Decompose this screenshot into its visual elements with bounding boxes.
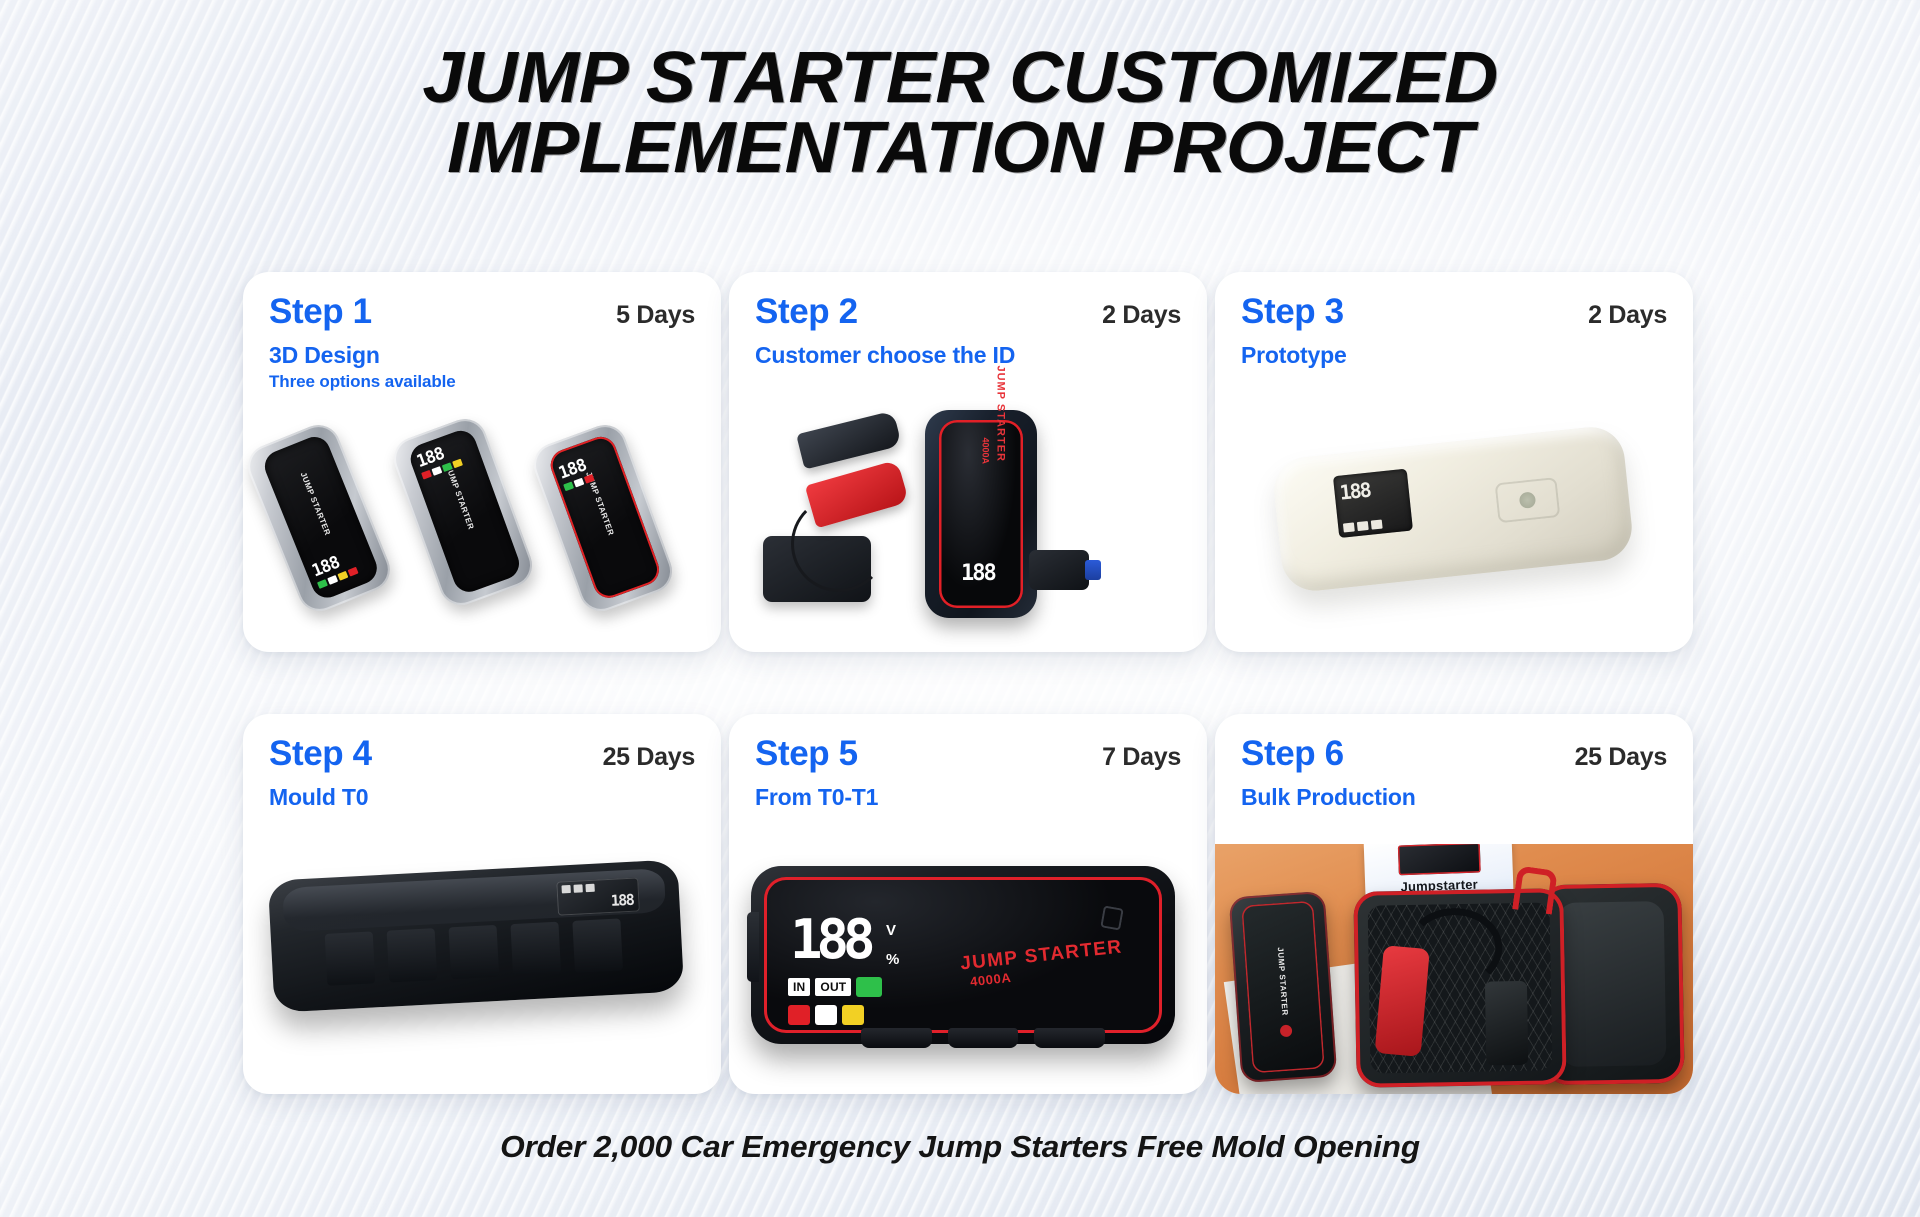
finished-unit-panel: 188 V % IN OUT [764,877,1162,1033]
step-card-6-header: Step 6 25 Days [1241,736,1667,773]
step-card-2[interactable]: Step 2 2 Days Customer choose the ID JUM… [729,272,1207,652]
chip-red [421,470,432,480]
battery-icon [842,1005,864,1025]
step-card-2-header: Step 2 2 Days [755,294,1181,331]
render-unit-b: JUMP STARTER 188 [388,413,538,611]
step-5-days: 7 Days [1102,736,1181,772]
step-card-1[interactable]: Step 1 5 Days 3D Design Three options av… [243,272,721,652]
jump-starter-with-clamps-illustration: JUMP STARTER 4000A 188 [729,400,1207,648]
render-unit-a-face: JUMP STARTER 188 [260,432,381,602]
chip-green [563,482,574,492]
step-3-subtitle: Prototype [1241,342,1667,369]
render-unit-b-lcd: 188 [415,437,476,484]
step-2-days: 2 Days [1102,294,1181,330]
steps-grid: Step 1 5 Days 3D Design Three options av… [243,272,1683,1094]
smart-cable-plug [1029,550,1089,590]
packaged-unit-face: JUMP STARTER [1241,901,1325,1074]
footer-note: Order 2,000 Car Emergency Jump Starters … [0,1129,1920,1165]
prototype-screen: 188 [1333,469,1413,538]
jump-starter-amp-text: 4000A [981,437,991,464]
case-black-plug [1485,981,1528,1066]
jump-starter-lcd-value: 188 [961,561,995,586]
unit-percent: % [886,946,899,975]
prototype-shell: 188 [1271,424,1635,594]
box-product-image [1398,844,1481,875]
jump-starter-brand-text: JUMP STARTER [995,365,1007,462]
step-1-subtitle: 3D Design [269,342,695,369]
chip-white [431,466,442,476]
icon-cell [573,884,582,892]
grip [948,1028,1019,1048]
indicator [1357,521,1369,531]
page-title: JUMP STARTER CUSTOMIZED IMPLEMENTATION P… [0,44,1920,184]
tag-out: OUT [815,978,851,996]
three-3d-render-units-illustration: JUMP STARTER 188 [243,404,721,644]
step-6-subtitle: Bulk Production [1241,784,1667,811]
step-4-media: 188 [243,844,721,1094]
step-6-media: Jumpstarter [1215,844,1693,1094]
render-unit-c: JUMP STARTER 188 [528,419,678,617]
step-card-5[interactable]: Step 5 7 Days From T0-T1 188 V % IN [729,714,1207,1094]
mould-lcd-icons [561,884,594,894]
chip-white [574,478,585,488]
warning-icon [788,1005,810,1025]
step-1-subtitle2: Three options available [269,372,695,392]
mould-lcd-window: 188 [556,877,640,915]
unit-volt: V [886,917,899,946]
tag-in: IN [788,978,810,996]
step-2-media: JUMP STARTER 4000A 188 [729,402,1207,652]
rib [325,931,376,985]
case-red-clamp [1375,945,1430,1057]
rib [387,928,438,982]
icon-cell [585,884,594,892]
page-title-line-2: IMPLEMENTATION PROJECT [0,114,1920,184]
render-unit-c-face: JUMP STARTER 188 [546,432,663,602]
render-unit-c-lcd: 188 [557,448,618,495]
step-1-days: 5 Days [616,294,695,330]
step-6-label: Step 6 [1241,736,1344,773]
step-5-media: 188 V % IN OUT [729,844,1207,1094]
finished-unit-illustration: 188 V % IN OUT [729,848,1207,1080]
rib [510,922,561,976]
chip-red [584,474,595,484]
step-4-subtitle: Mould T0 [269,784,695,811]
case-base [1353,888,1566,1088]
prototype-lcd-value: 188 [1338,478,1370,505]
chip-yellow [337,571,348,581]
cream-prototype-illustration: 188 [1215,406,1693,626]
flashlight-icon [815,1005,837,1025]
step-card-6[interactable]: Step 6 25 Days Bulk Production Jumpstart… [1215,714,1693,1094]
finished-status-row-2 [788,1005,864,1025]
step-card-3[interactable]: Step 3 2 Days Prototype 188 [1215,272,1693,652]
finished-amp-text: 4000A [969,970,1012,989]
finished-unit-grips [861,1028,1105,1048]
rib [449,925,500,979]
step-2-subtitle: Customer choose the ID [755,342,1181,369]
grip [1034,1028,1105,1048]
packaged-unit-power-button [1280,1024,1293,1037]
rib [572,918,623,972]
chip-green [317,579,328,589]
power-button-icon [1100,905,1124,930]
case-handle-strap [1512,865,1558,914]
jump-starter-unit: JUMP STARTER 4000A 188 [925,410,1037,618]
finished-brand-text: JUMP STARTER [959,937,1123,976]
step-6-days: 25 Days [1575,736,1667,772]
grip [861,1028,932,1048]
step-2-label: Step 2 [755,294,858,331]
packaged-jump-starter-unit: JUMP STARTER [1229,891,1338,1083]
side-buttons [747,912,759,982]
finished-status-row-1: IN OUT [788,977,882,997]
step-5-subtitle: From T0-T1 [755,784,1181,811]
finished-lcd-units: V % [886,917,899,974]
step-card-1-header: Step 1 5 Days [269,294,695,331]
bolt-icon [856,977,882,997]
black-clamp [796,410,902,469]
jump-starter-screen: JUMP STARTER 4000A 188 [939,420,1023,608]
render-unit-a: JUMP STARTER 188 [243,418,396,617]
chip-red [348,567,359,577]
icon-cell [561,885,570,893]
chip-white [327,575,338,585]
step-card-5-header: Step 5 7 Days [755,736,1181,773]
step-1-media: JUMP STARTER 188 [243,402,721,652]
chip-yellow [452,459,463,469]
step-card-4[interactable]: Step 4 25 Days Mould T0 188 [243,714,721,1094]
indicator [1371,520,1383,530]
prototype-embossed-logo [1495,477,1561,523]
step-1-label: Step 1 [269,294,372,331]
step-card-3-header: Step 3 2 Days [1241,294,1667,331]
mould-shell: 188 [268,859,684,1012]
packaged-unit-brand: JUMP STARTER [1276,947,1290,1016]
step-card-4-header: Step 4 25 Days [269,736,695,773]
render-unit-a-brand: JUMP STARTER [299,471,333,537]
finished-lcd-value: 188 [790,913,870,967]
finished-jump-starter: 188 V % IN OUT [751,866,1175,1044]
step-5-label: Step 5 [755,736,858,773]
page-title-line-1: JUMP STARTER CUSTOMIZED [0,44,1920,114]
step-3-days: 2 Days [1588,294,1667,330]
step-4-label: Step 4 [269,736,372,773]
render-unit-a-lcd: 188 [310,545,371,593]
black-mould-illustration: 188 [243,848,721,1038]
step-3-media: 188 [1215,402,1693,652]
step-4-days: 25 Days [603,736,695,772]
mould-lcd-value: 188 [610,891,634,910]
prototype-indicator-row [1343,520,1383,533]
indicator [1343,522,1355,532]
render-unit-b-brand: JUMP STARTER [444,465,476,532]
render-unit-b-face: JUMP STARTER 188 [406,426,523,596]
packaged-kit-photo: Jumpstarter [1215,844,1693,1094]
chip-green [442,462,453,472]
mould-ribs [325,918,623,985]
step-3-label: Step 3 [1241,294,1344,331]
